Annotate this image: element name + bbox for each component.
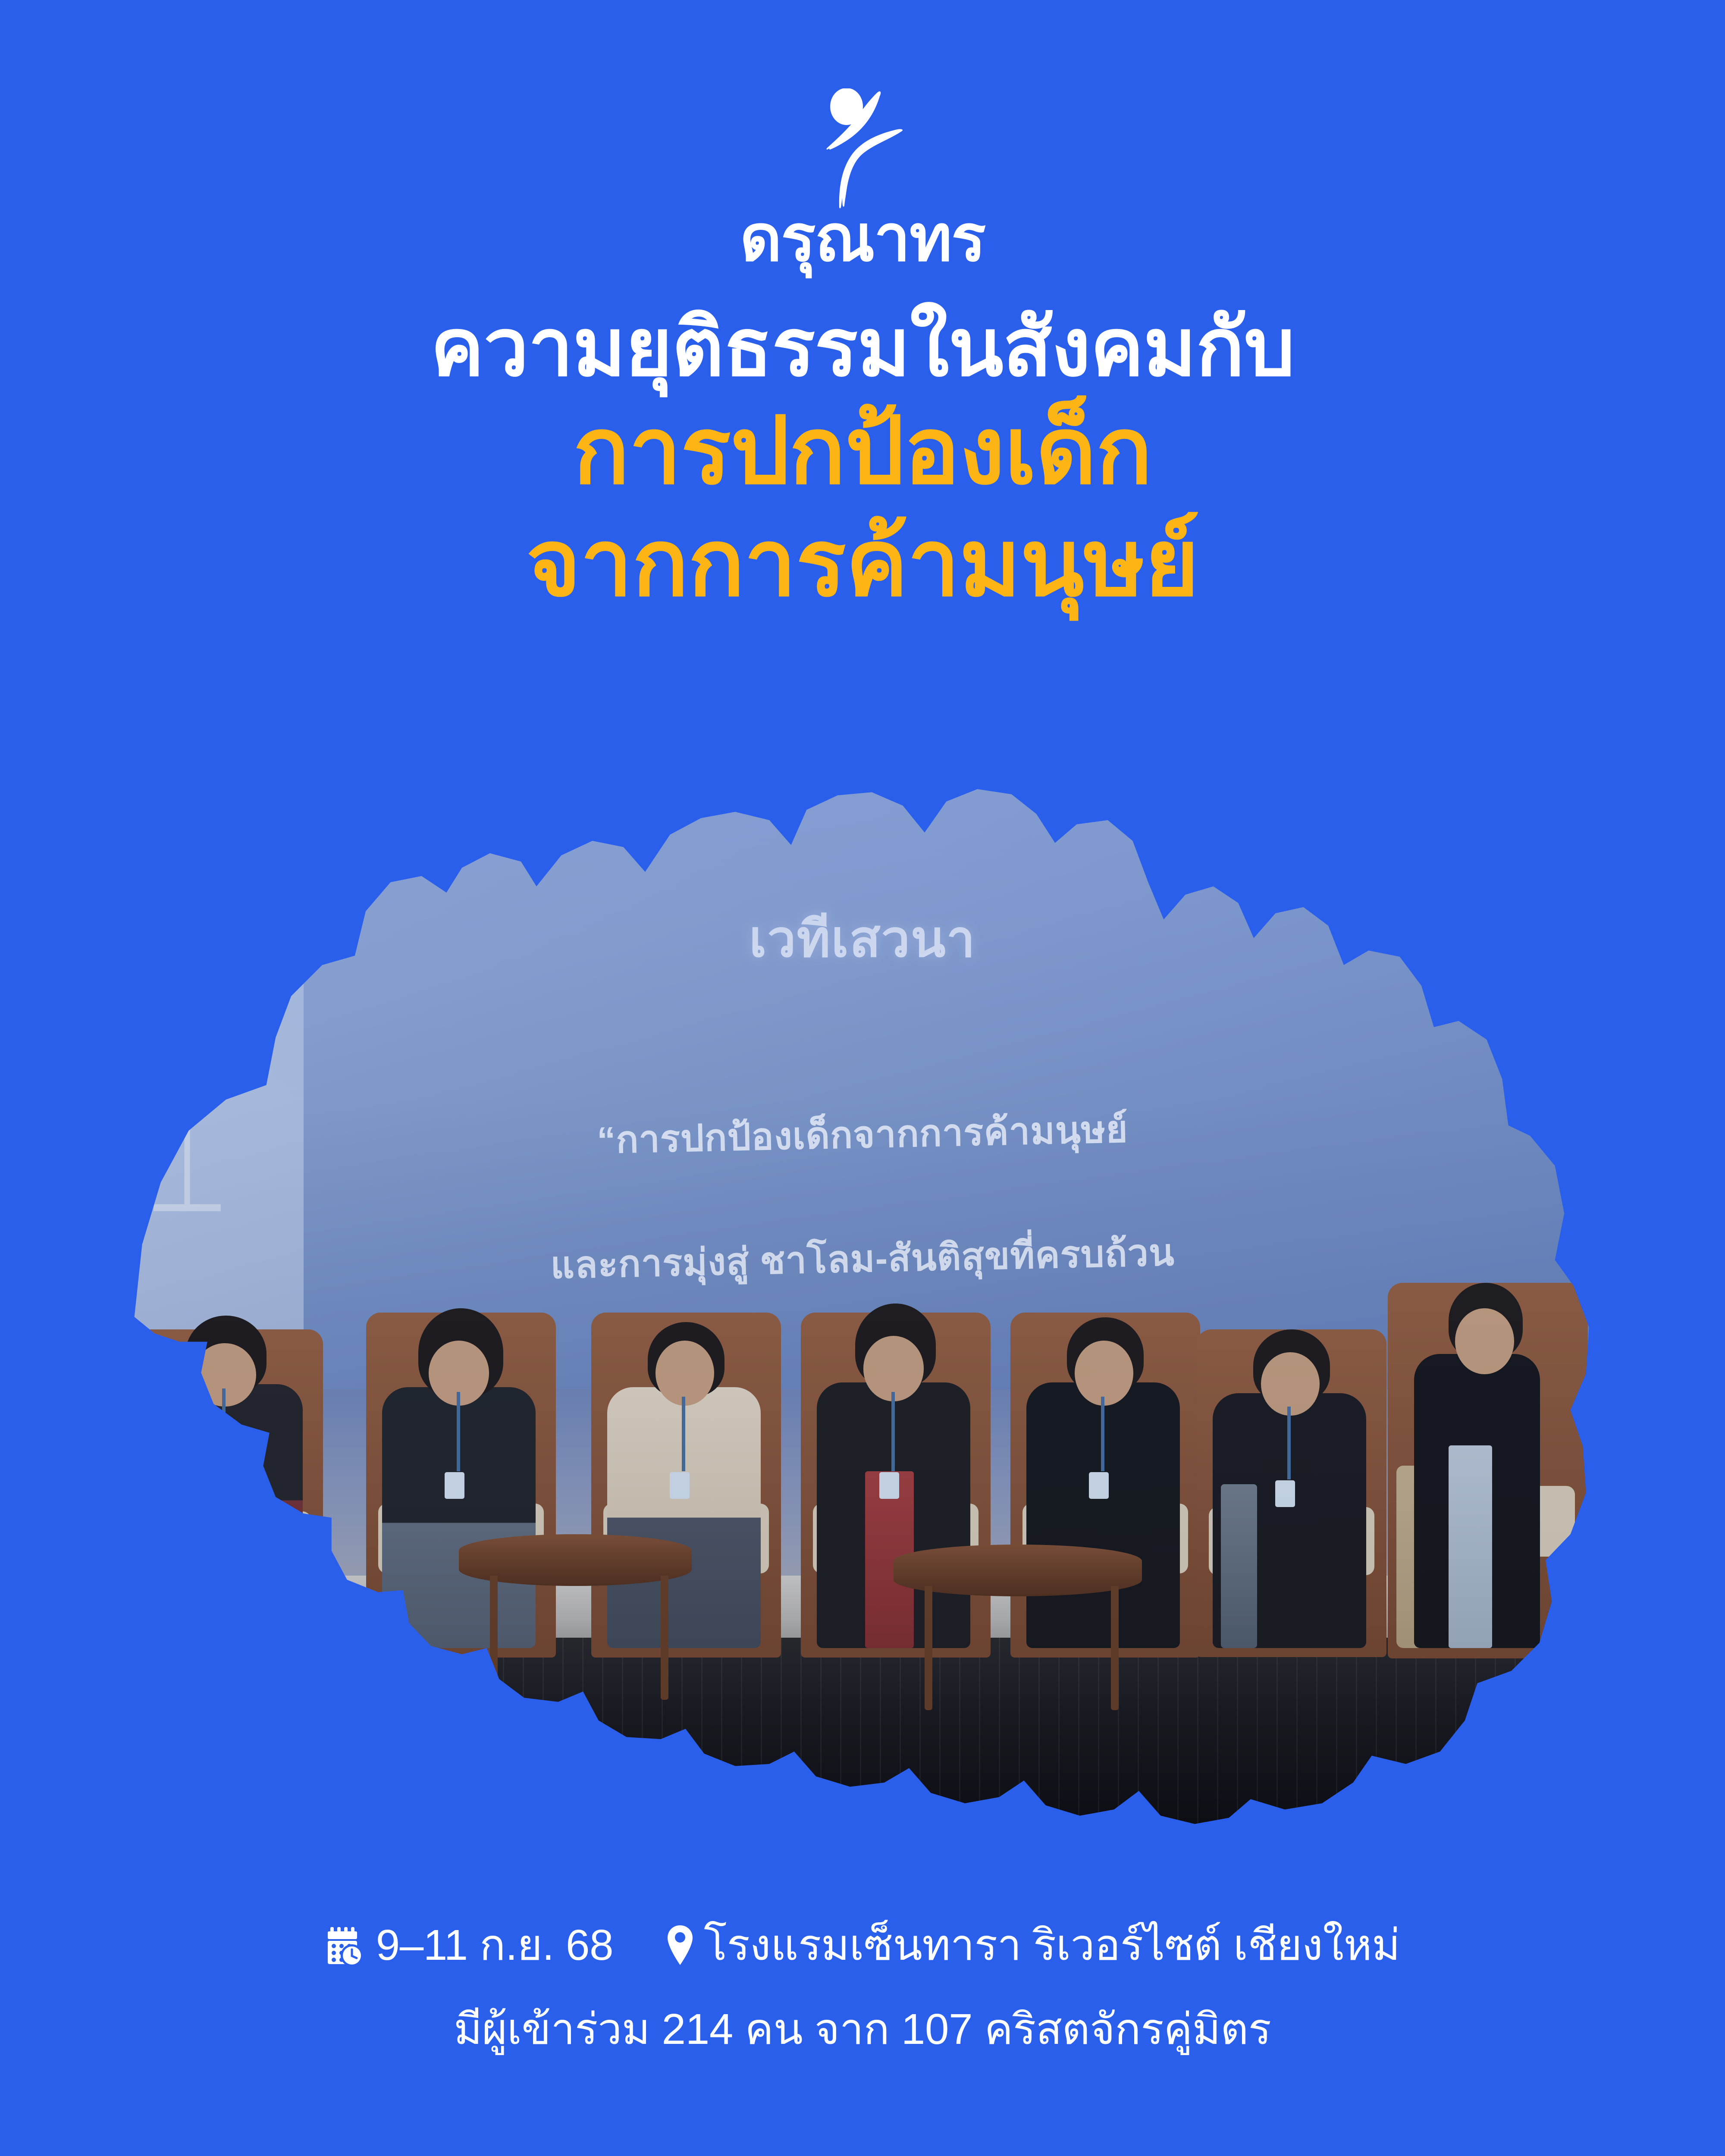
poster-root: ดรุณาทร ความยุติธรรมในสังคมกับ การปกป้อง… [0, 0, 1725, 2156]
leaping-person-icon [804, 88, 921, 218]
panelist [1189, 1193, 1390, 1648]
event-location-text: โรงแรมเซ็นทารา ริเวอร์ไซต์ เชียงใหม่ [704, 1911, 1400, 1979]
table-leg [1111, 1586, 1119, 1710]
footer-meta-row: 9–11 ก.ย. 68 โรงแรมเซ็นทารา ริเวอร์ไซต์ … [0, 1911, 1725, 1979]
footer: 9–11 ก.ย. 68 โรงแรมเซ็นทารา ริเวอร์ไซต์ … [0, 1911, 1725, 2063]
panelist-moderator [1375, 1141, 1592, 1648]
panelist [125, 1193, 327, 1648]
table-leg [925, 1586, 932, 1710]
headline-line-2: การปกป้องเด็ก [0, 395, 1725, 507]
event-date: 9–11 ก.ย. 68 [325, 1911, 614, 1979]
headline-line-3: จากการค้ามนุษย์ [0, 507, 1725, 619]
photo-torn-mask: เวทีเสวนา “การปกป้องเด็กจากการค้ามนุษย์ … [86, 789, 1639, 1824]
table-leg [661, 1576, 668, 1700]
brand-logo: ดรุณาทร [740, 88, 985, 270]
attendance-text: มีผู้เข้าร่วม 214 คน จาก 107 คริสตจักรคู… [0, 1995, 1725, 2063]
calendar-clock-icon [325, 1923, 367, 1968]
headline: ความยุติธรรมในสังคมกับ การปกป้องเด็ก จาก… [0, 301, 1725, 619]
slide-title: เวทีเสวนา [86, 898, 1639, 979]
table-leg [490, 1576, 498, 1700]
map-pin-icon [666, 1924, 694, 1967]
event-photo: เวทีเสวนา “การปกป้องเด็กจากการค้ามนุษย์ … [86, 789, 1639, 1824]
event-location: โรงแรมเซ็นทารา ริเวอร์ไซต์ เชียงใหม่ [666, 1911, 1400, 1979]
headline-line-1: ความยุติธรรมในสังคมกับ [0, 301, 1725, 395]
event-date-text: 9–11 ก.ย. 68 [376, 1911, 614, 1979]
brand-wordmark: ดรุณาทร [740, 206, 985, 270]
stage-skirt [86, 1638, 1639, 1824]
panel-discussion-scene: เวทีเสวนา “การปกป้องเด็กจากการค้ามนุษย์ … [86, 789, 1639, 1824]
